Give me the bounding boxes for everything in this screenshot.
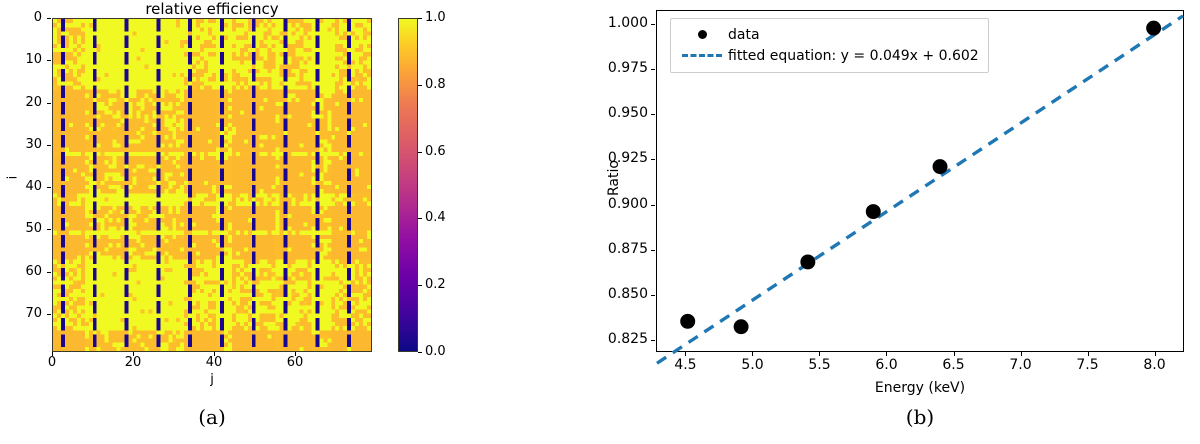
panel-a-caption: (a) xyxy=(52,405,372,429)
heatmap-y-tick-mark xyxy=(47,103,51,104)
colorbar-tick-mark xyxy=(418,352,422,353)
heatmap-y-tick-label: 20 xyxy=(2,96,42,110)
heatmap-x-tick-label: 60 xyxy=(272,356,318,370)
scatter-y-tick-label: 0.875 xyxy=(598,242,648,257)
heatmap-y-axis-label: i xyxy=(6,163,21,193)
scatter-y-tick-label: 0.975 xyxy=(598,61,648,76)
scatter-x-axis-label: Energy (keV) xyxy=(656,380,1184,396)
scatter-y-tick-mark xyxy=(651,69,655,70)
scatter-x-tick-mark xyxy=(886,352,887,356)
scatter-y-tick-mark xyxy=(651,24,655,25)
scatter-y-tick-label: 0.825 xyxy=(598,332,648,347)
data-point xyxy=(933,159,948,174)
legend-label-fit: fitted equation: y = 0.049x + 0.602 xyxy=(724,48,979,64)
scatter-y-tick-label: 0.950 xyxy=(598,106,648,121)
heatmap-x-tick-label: 40 xyxy=(191,356,237,370)
heatmap-image xyxy=(53,19,371,351)
scatter-x-tick-label: 6.5 xyxy=(929,358,979,373)
colorbar-tick-label: 0.0 xyxy=(425,345,446,359)
heatmap-x-tick-label: 20 xyxy=(110,356,156,370)
scatter-y-tick-mark xyxy=(651,159,655,160)
heatmap-y-tick-label: 60 xyxy=(2,265,42,279)
data-point xyxy=(680,314,695,329)
scatter-legend: data fitted equation: y = 0.049x + 0.602 xyxy=(670,18,989,73)
scatter-x-tick-label: 4.5 xyxy=(660,358,710,373)
colorbar-tick-mark xyxy=(418,85,422,86)
heatmap-plot-area xyxy=(52,18,372,352)
colorbar-tick-mark xyxy=(418,285,422,286)
scatter-x-tick-label: 7.5 xyxy=(1063,358,1113,373)
panel-b-scatter: 0.8250.8500.8750.9000.9250.9500.9751.000… xyxy=(600,0,1200,444)
heatmap-y-tick-mark xyxy=(47,60,51,61)
scatter-x-tick-mark xyxy=(1088,352,1089,356)
heatmap-x-axis-label: j xyxy=(52,372,372,387)
heatmap-y-tick-mark xyxy=(47,314,51,315)
heatmap-y-tick-mark xyxy=(47,145,51,146)
colorbar-tick-mark xyxy=(418,18,422,19)
scatter-x-tick-mark xyxy=(1155,352,1156,356)
scatter-x-tick-mark xyxy=(685,352,686,356)
heatmap-y-tick-mark xyxy=(47,18,51,19)
data-point xyxy=(734,319,749,334)
scatter-y-tick-label: 0.900 xyxy=(598,197,648,212)
scatter-x-tick-mark xyxy=(752,352,753,356)
heatmap-title: relative efficiency xyxy=(52,0,372,18)
scatter-y-tick-label: 1.000 xyxy=(598,16,648,31)
legend-dashed-line-icon xyxy=(680,54,724,57)
data-point xyxy=(866,204,881,219)
heatmap-y-tick-mark xyxy=(47,272,51,273)
heatmap-y-tick-mark xyxy=(47,187,51,188)
heatmap-x-tick-label: 0 xyxy=(29,356,75,370)
scatter-y-axis-label: Ratio xyxy=(606,158,622,198)
colorbar-tick-label: 0.6 xyxy=(425,145,446,159)
legend-label-data: data xyxy=(724,27,760,43)
heatmap-y-tick-label: 30 xyxy=(2,138,42,152)
colorbar-tick-label: 0.4 xyxy=(425,211,446,225)
scatter-y-tick-mark xyxy=(651,250,655,251)
scatter-x-tick-label: 8.0 xyxy=(1130,358,1180,373)
scatter-y-tick-mark xyxy=(651,295,655,296)
figure: relative efficiency 010203040506070 0204… xyxy=(0,0,1200,444)
colorbar-tick-mark xyxy=(418,152,422,153)
colorbar-tick-label: 0.2 xyxy=(425,278,446,292)
scatter-x-tick-label: 7.0 xyxy=(996,358,1046,373)
heatmap-y-tick-label: 50 xyxy=(2,222,42,236)
colorbar-tick-label: 1.0 xyxy=(425,11,446,25)
scatter-y-tick-mark xyxy=(651,340,655,341)
scatter-x-tick-label: 6.0 xyxy=(861,358,911,373)
colorbar-tick-mark xyxy=(418,218,422,219)
scatter-x-tick-mark xyxy=(819,352,820,356)
colorbar-gradient xyxy=(398,18,418,352)
scatter-x-tick-mark xyxy=(954,352,955,356)
scatter-x-tick-label: 5.0 xyxy=(727,358,777,373)
scatter-x-tick-mark xyxy=(1021,352,1022,356)
scatter-y-tick-mark xyxy=(651,205,655,206)
heatmap-y-tick-label: 10 xyxy=(2,53,42,67)
heatmap-y-tick-label: 70 xyxy=(2,307,42,321)
scatter-y-tick-label: 0.850 xyxy=(598,287,648,302)
scatter-y-tick-mark xyxy=(651,114,655,115)
panel-a-heatmap: relative efficiency 010203040506070 0204… xyxy=(0,0,600,444)
data-point xyxy=(1146,21,1161,36)
heatmap-y-tick-mark xyxy=(47,229,51,230)
colorbar: 0.00.20.40.60.81.0 xyxy=(398,18,418,352)
legend-entry-data: data xyxy=(680,24,979,45)
legend-entry-fit: fitted equation: y = 0.049x + 0.602 xyxy=(680,45,979,66)
legend-marker-dot-icon xyxy=(680,30,724,39)
panel-b-caption: (b) xyxy=(656,405,1184,429)
scatter-x-tick-label: 5.5 xyxy=(794,358,844,373)
heatmap-y-tick-label: 0 xyxy=(2,11,42,25)
colorbar-tick-label: 0.8 xyxy=(425,78,446,92)
data-point xyxy=(800,254,815,269)
